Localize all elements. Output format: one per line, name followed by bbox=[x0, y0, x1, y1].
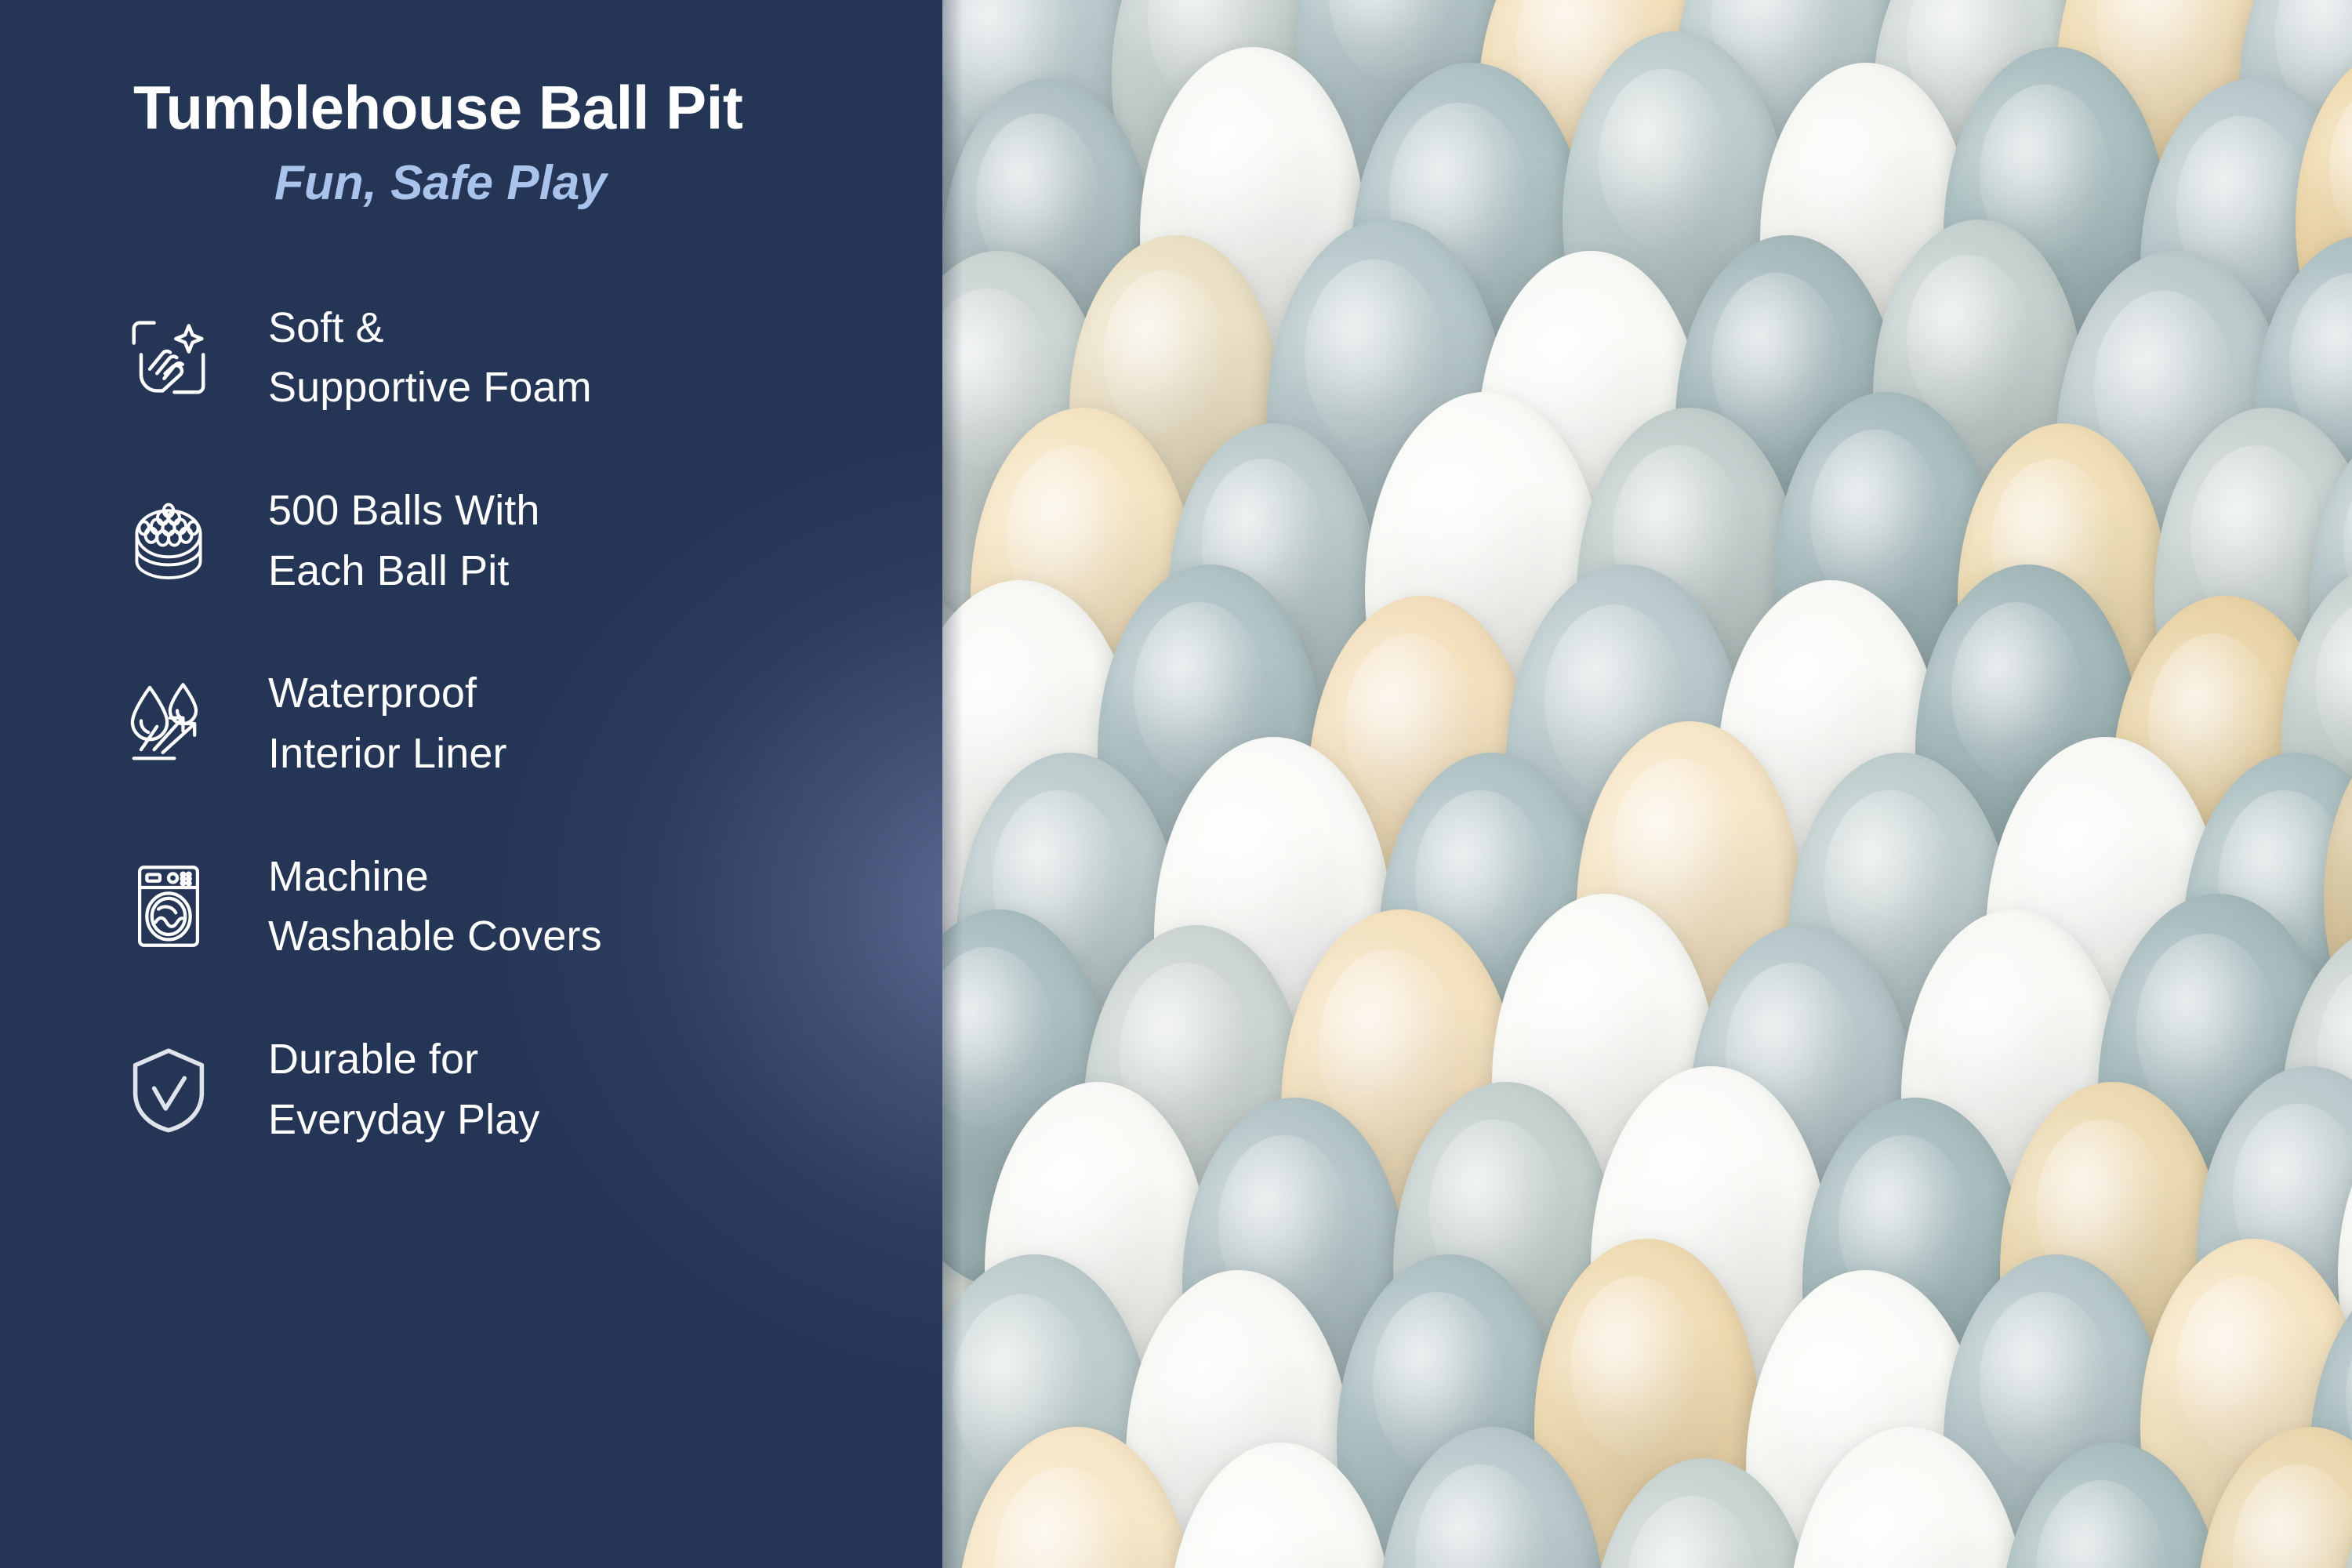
feature-item-ball-count: 500 Balls With Each Ball Pit bbox=[118, 481, 895, 601]
ball-pit-balls-icon bbox=[118, 490, 220, 592]
waterproof-droplets-icon bbox=[118, 673, 220, 775]
feature-line-2: Each Ball Pit bbox=[268, 541, 540, 601]
feature-list: Soft & Supportive Foam bbox=[118, 298, 895, 1150]
page-title: Tumblehouse Ball Pit bbox=[133, 75, 895, 140]
feature-line-1: Machine bbox=[268, 847, 602, 907]
feature-label-ball-count: 500 Balls With Each Ball Pit bbox=[268, 481, 540, 601]
feature-line-2: Interior Liner bbox=[268, 724, 507, 784]
shield-check-icon bbox=[118, 1039, 220, 1141]
feature-label-waterproof: Waterproof Interior Liner bbox=[268, 663, 507, 783]
feature-item-soft-foam: Soft & Supportive Foam bbox=[118, 298, 895, 418]
ball-pit-photo bbox=[942, 0, 2352, 1568]
feature-label-machine-washable: Machine Washable Covers bbox=[268, 847, 602, 967]
feature-item-waterproof: Waterproof Interior Liner bbox=[118, 663, 895, 783]
product-feature-banner: Tumblehouse Ball Pit Fun, Safe Play bbox=[0, 0, 2352, 1568]
feature-item-machine-washable: Machine Washable Covers bbox=[118, 847, 895, 967]
feature-line-1: 500 Balls With bbox=[268, 481, 540, 541]
washing-machine-icon bbox=[118, 855, 220, 957]
page-subtitle: Fun, Safe Play bbox=[274, 158, 895, 210]
feature-line-1: Waterproof bbox=[268, 663, 507, 724]
feature-label-durable: Durable for Everyday Play bbox=[268, 1029, 539, 1149]
feature-line-2: Everyday Play bbox=[268, 1090, 539, 1150]
feature-label-soft-foam: Soft & Supportive Foam bbox=[268, 298, 592, 418]
feature-line-1: Durable for bbox=[268, 1029, 539, 1090]
feature-item-durable: Durable for Everyday Play bbox=[118, 1029, 895, 1149]
ball-cluster bbox=[942, 0, 2352, 1568]
feature-line-2: Washable Covers bbox=[268, 906, 602, 967]
info-panel: Tumblehouse Ball Pit Fun, Safe Play bbox=[0, 0, 942, 1568]
feature-line-1: Soft & bbox=[268, 298, 592, 358]
feature-line-2: Supportive Foam bbox=[268, 358, 592, 418]
soft-foam-hand-sparkle-icon bbox=[118, 307, 220, 408]
